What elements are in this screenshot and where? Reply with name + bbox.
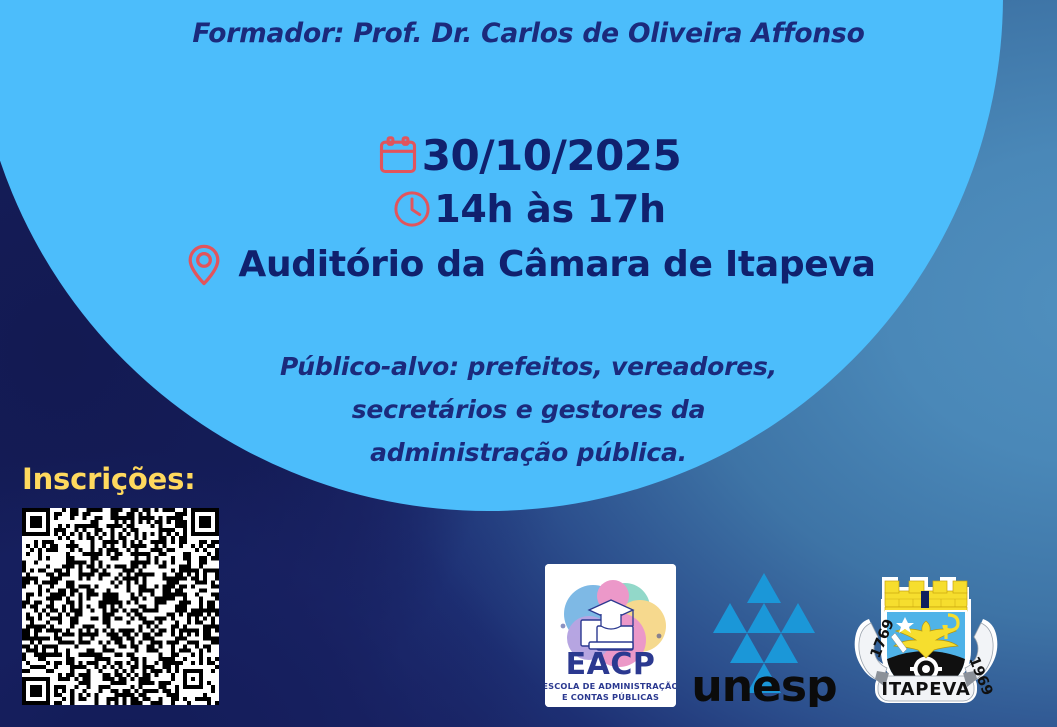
eacp-line-1: ESCOLA DE ADMINISTRAÇÃO	[545, 680, 676, 691]
unesp-logo: unesp	[692, 565, 836, 707]
event-time-value: 14h às 17h	[434, 187, 666, 231]
eacp-logo-graphic: EACP ESCOLA DE ADMINISTRAÇÃO E CONTAS PÚ…	[545, 564, 676, 707]
eacp-logo: EACP ESCOLA DE ADMINISTRAÇÃO E CONTAS PÚ…	[545, 564, 676, 707]
eacp-line-2: E CONTAS PÚBLICAS	[562, 691, 659, 702]
event-poster: Formador: Prof. Dr. Carlos de Oliveira A…	[0, 0, 1057, 727]
unesp-logo-graphic: unesp	[692, 565, 836, 707]
city-name: ITAPEVA	[881, 679, 970, 700]
audience-line-1: Público-alvo: prefeitos, vereadores,	[0, 345, 1057, 388]
event-info-block: 30/10/2025 14h às 17h	[0, 128, 1057, 290]
event-date-value: 30/10/2025	[422, 131, 681, 180]
audience-line-2: secretários e gestores da	[0, 388, 1057, 431]
event-place-value: Auditório da Câmara de Itapeva	[238, 244, 875, 285]
unesp-wordmark: unesp	[692, 661, 836, 707]
clock-icon	[391, 188, 433, 230]
event-date-row: 30/10/2025	[0, 128, 1057, 182]
eacp-acronym: EACP	[566, 647, 656, 682]
qr-code-canvas	[22, 508, 219, 705]
location-pin-icon	[181, 241, 227, 287]
speaker-line: Formador: Prof. Dr. Carlos de Oliveira A…	[0, 18, 1057, 49]
registration-qr-code[interactable]	[22, 508, 219, 705]
target-audience-block: Público-alvo: prefeitos, vereadores, sec…	[0, 345, 1057, 474]
calendar-icon	[376, 133, 420, 177]
event-time-row: 14h às 17h	[0, 184, 1057, 234]
itapeva-coat-of-arms: 1769 1969 ITAPEVA	[845, 547, 1007, 713]
event-place-row: Auditório da Câmara de Itapeva	[0, 238, 1057, 290]
itapeva-coat-of-arms-graphic: 1769 1969 ITAPEVA	[845, 547, 1007, 713]
registration-label: Inscrições:	[22, 462, 196, 496]
